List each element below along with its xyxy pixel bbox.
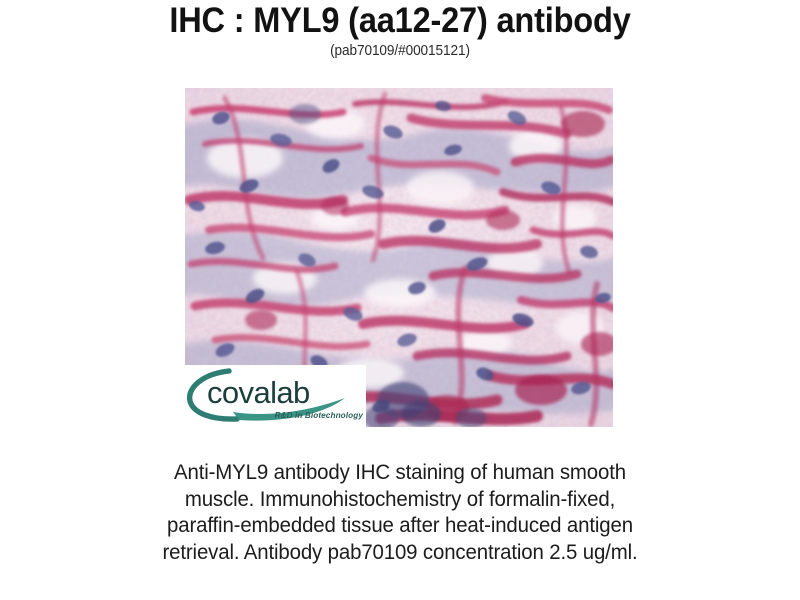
- figure-header: IHC : MYL9 (aa12-27) antibody (pab70109/…: [0, 0, 800, 59]
- covalab-logo: covalab R&D in Biotechnology: [185, 365, 366, 427]
- caption-line-4: retrieval. Antibody pab70109 concentrati…: [77, 539, 723, 566]
- caption-line-2: muscle. Immunohistochemistry of formalin…: [77, 486, 723, 513]
- covalab-logo-graphic: covalab R&D in Biotechnology: [185, 365, 366, 427]
- figure-caption: Anti-MYL9 antibody IHC staining of human…: [60, 459, 740, 565]
- page-title: IHC : MYL9 (aa12-27) antibody: [28, 0, 772, 40]
- caption-line-3: paraffin-embedded tissue after heat-indu…: [77, 512, 723, 539]
- catalog-number-subtitle: (pab70109/#00015121): [24, 40, 776, 59]
- caption-line-1: Anti-MYL9 antibody IHC staining of human…: [77, 459, 723, 486]
- logo-wordmark: covalab: [207, 375, 310, 410]
- logo-tagline: R&D in Biotechnology: [275, 411, 364, 420]
